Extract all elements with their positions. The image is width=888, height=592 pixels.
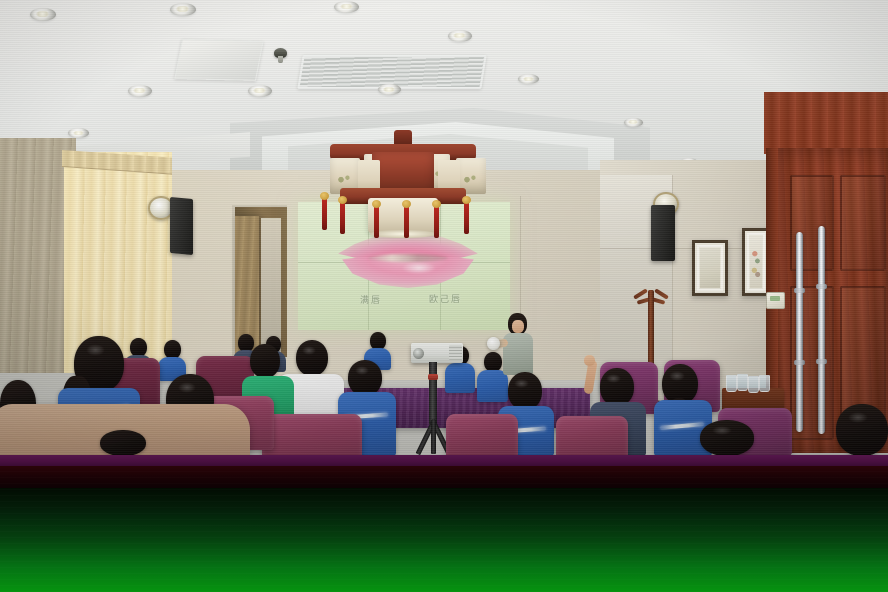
slide-label-right: 欧己唇 [429, 292, 462, 305]
smoke-detector-icon [274, 48, 287, 58]
screenshot-root: 满唇 欧己唇 [0, 0, 888, 592]
tripod-column [429, 362, 437, 424]
attendee-head [100, 430, 146, 456]
attendee-torso [445, 363, 475, 393]
water-glass [748, 376, 759, 393]
attendee-head [348, 360, 382, 396]
lantern-tassel [464, 200, 469, 234]
lip-opening [368, 254, 448, 262]
lantern-center-panel [372, 152, 434, 192]
lantern-tassel [434, 204, 439, 238]
hair-highlight [86, 344, 105, 356]
attendee-head [508, 372, 542, 410]
projector-vent [449, 345, 462, 360]
wall-speaker-right [651, 205, 675, 261]
hair-highlight [848, 412, 868, 423]
curtain-sunlit [64, 152, 172, 373]
tassel-bead [402, 200, 411, 208]
downlight [170, 3, 196, 16]
artifact-purple-band [0, 455, 888, 466]
downlight [30, 8, 56, 21]
attendee-torso [477, 370, 508, 402]
tassel-bead [338, 196, 347, 204]
chair[interactable] [262, 414, 362, 456]
water-glass [726, 375, 737, 392]
downlight [624, 118, 643, 127]
lantern-tassel [340, 200, 345, 234]
tripod-lock-knob[interactable] [428, 374, 438, 380]
hair-highlight [712, 426, 732, 435]
attendee-head [296, 340, 328, 376]
downlight [334, 1, 359, 13]
door-header-panel [764, 92, 888, 154]
tassel-bead [320, 192, 329, 200]
tassel-bead [432, 200, 441, 208]
door-handle[interactable] [796, 232, 803, 432]
hair-highlight [514, 379, 529, 388]
lantern-tassel [374, 204, 379, 238]
tripod-leg [431, 420, 436, 454]
downlight [448, 30, 472, 42]
wall-switch-panel[interactable] [766, 292, 785, 309]
artwork-image [700, 248, 720, 288]
door-handle[interactable] [818, 226, 825, 434]
chinese-lantern-chandelier [316, 130, 488, 242]
tassel-bead [462, 196, 471, 204]
lantern-diffuser [370, 230, 436, 238]
attendee-head [250, 344, 280, 378]
lantern-decoration [335, 170, 355, 186]
tassel-bead [372, 200, 381, 208]
presenter-torso [503, 333, 533, 375]
lantern-tassel [404, 204, 409, 238]
raised-hand [584, 355, 595, 366]
lip-highlight [402, 262, 436, 274]
chair[interactable] [446, 414, 518, 456]
demo-product-item [487, 337, 500, 350]
attendee-head [484, 352, 502, 372]
water-glass [759, 375, 770, 392]
projector-lens [413, 348, 424, 359]
downlight [248, 85, 272, 97]
doorway-opening [261, 218, 281, 354]
artwork-image [750, 236, 762, 288]
downlight [378, 84, 401, 95]
ceiling-speaker-panel [174, 39, 263, 81]
hair-highlight [669, 371, 685, 381]
presenter-face [512, 320, 524, 333]
attendee-head [700, 420, 754, 456]
door-panel [840, 175, 886, 271]
chair[interactable] [556, 416, 628, 456]
framed-artwork [692, 240, 728, 296]
hair-highlight [606, 374, 621, 383]
lantern-tassel [322, 196, 327, 230]
lantern-decoration [461, 170, 481, 186]
downlight [128, 85, 152, 97]
water-glass [737, 374, 748, 391]
wall-speaker-left [170, 197, 193, 255]
downlight [68, 128, 89, 138]
hair-highlight [355, 366, 369, 375]
window-curtains [0, 138, 172, 373]
hair-highlight [302, 346, 316, 355]
hair-highlight [178, 382, 196, 393]
slide-label-left: 满唇 [360, 293, 382, 306]
photograph: 满唇 欧己唇 [0, 0, 888, 456]
artifact-green-gradient-band [0, 488, 888, 592]
downlight [518, 74, 539, 84]
